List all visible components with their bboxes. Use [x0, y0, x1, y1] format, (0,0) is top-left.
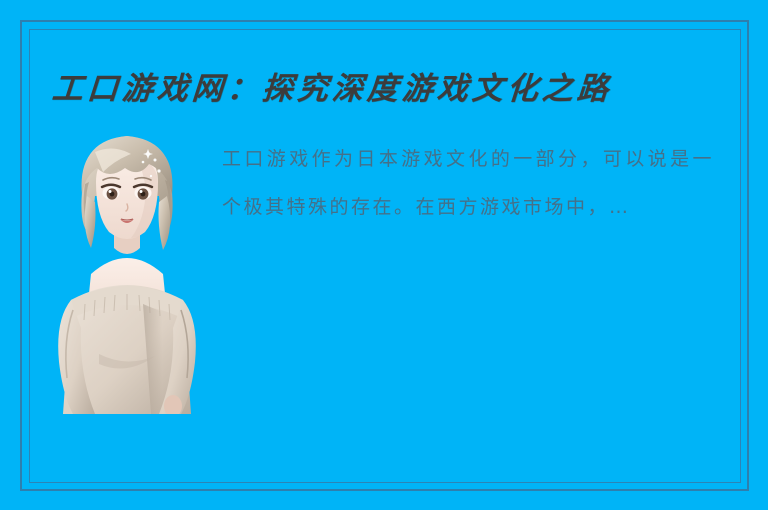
- anime-girl-illustration: [51, 124, 203, 414]
- page-title: 工口游戏网：探究深度游戏文化之路: [50, 63, 724, 115]
- article-card: 工口游戏网：探究深度游戏文化之路: [29, 29, 741, 483]
- article-excerpt: 工口游戏作为日本游戏文化的一部分，可以说是一个极其特殊的存在。在西方游戏市场中，…: [222, 135, 714, 231]
- article-content: 工口游戏作为日本游戏文化的一部分，可以说是一个极其特殊的存在。在西方游戏市场中，…: [29, 124, 741, 454]
